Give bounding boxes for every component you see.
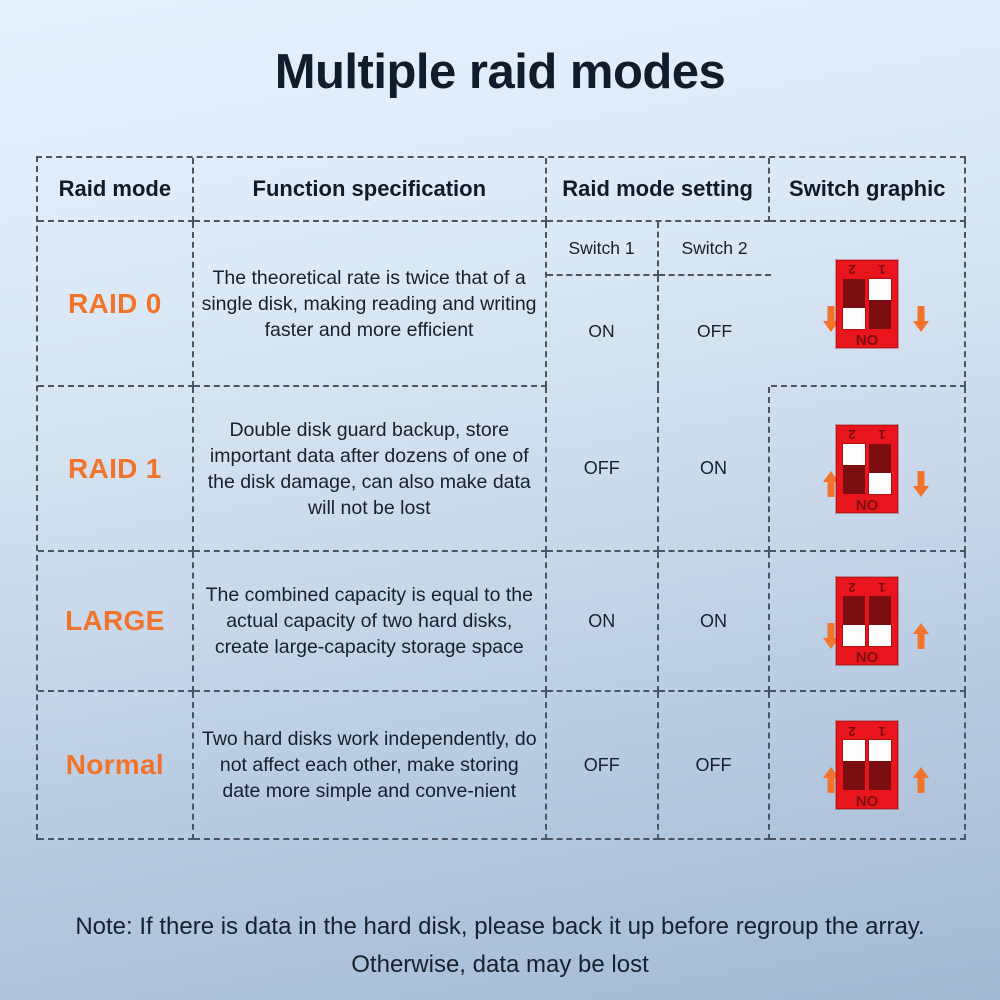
function-specification-text: Double disk guard backup, store importan… [202,417,537,521]
switch-1-value: ON [547,276,659,387]
dip-switch-slot-2 [843,444,865,494]
dip-switch-on-label: ON [837,332,897,347]
dip-switch-label-1: 1 [875,581,889,594]
function-specification-text: The theoretical rate is twice that of a … [202,265,537,343]
switch-graphic-cell: 21ON [770,387,966,552]
raid-mode-label: RAID 1 [68,453,162,485]
table-header-row: Raid mode Function specification Raid mo… [38,158,966,222]
dip-switch-on-label: ON [837,497,897,512]
raid-modes-infographic: Multiple raid modes Raid mode Function s… [0,0,1000,1000]
header-switch-graphic: Switch graphic [770,158,966,222]
page-title: Multiple raid modes [0,44,1000,100]
switch-graphic-cell: 21ON [770,552,966,692]
dip-switch-graphic: 21ON [836,260,898,348]
table-row: RAID 0The theoretical rate is twice that… [38,222,966,387]
dip-switch-graphic: 21ON [836,721,898,809]
dip-switch-slider-1[interactable] [869,625,891,646]
raid-mode-label: Normal [66,749,164,781]
switch-1-value: ON [547,552,659,692]
subheader-switch-1: Switch 1 [547,222,659,276]
subheader-switch-2: Switch 2 [659,222,771,276]
dip-switch-graphic: 21ON [836,577,898,665]
switch-2-value: OFF [659,692,771,840]
raid-mode-label: LARGE [65,605,165,637]
dip-switch-label-2: 2 [845,263,859,276]
switch-value-row: ONOFF [547,276,771,387]
dip-switch-slider-2[interactable] [843,444,865,465]
dip-switch-label-2: 2 [845,725,859,738]
dip-switch-number-labels: 21 [837,579,897,595]
raid-modes-table: Raid mode Function specification Raid mo… [36,156,966,840]
dip-switch-label-1: 1 [875,263,889,276]
function-specification-cell: Two hard disks work independently, do no… [194,692,547,840]
dip-switch-slot-1 [869,740,891,790]
table-row: NormalTwo hard disks work independently,… [38,692,966,840]
switch-subheader-row: Switch 1Switch 2 [547,222,771,276]
dip-switch-label-2: 2 [845,581,859,594]
table-row: RAID 1Double disk guard backup, store im… [38,387,966,552]
dip-switch-number-labels: 21 [837,723,897,739]
dip-switch-slots [843,596,891,646]
switch-1-value: OFF [547,387,659,552]
dip-switch-slots [843,740,891,790]
table-row: LARGEThe combined capacity is equal to t… [38,552,966,692]
table-body: RAID 0The theoretical rate is twice that… [38,222,966,840]
dip-switch-slot-1 [869,279,891,329]
dip-switch-slider-2[interactable] [843,740,865,761]
raid-mode-cell: RAID 1 [38,387,194,552]
switch-graphic-cell: 21ON [770,692,966,840]
dip-switch-graphic: 21ON [836,425,898,513]
dip-switch-label-1: 1 [875,428,889,441]
dip-switch-slot-2 [843,279,865,329]
dip-switch-number-labels: 21 [837,262,897,278]
switch-2-value: OFF [659,276,771,387]
switch-2-value: ON [659,387,771,552]
setting-column: Switch 1Switch 2ONOFF [547,222,771,387]
footer-note-line-1: Note: If there is data in the hard disk,… [0,908,1000,946]
header-function-specification: Function specification [194,158,547,222]
function-specification-cell: The combined capacity is equal to the ac… [194,552,547,692]
dip-switch-on-label: ON [837,793,897,808]
raid-mode-label: RAID 0 [68,288,162,320]
dip-switch-label-1: 1 [875,725,889,738]
function-specification-text: The combined capacity is equal to the ac… [202,582,537,660]
function-specification-cell: The theoretical rate is twice that of a … [194,222,547,387]
dip-switch-slider-1[interactable] [869,473,891,494]
dip-switch-slot-2 [843,596,865,646]
raid-mode-cell: Normal [38,692,194,840]
switch-graphic-cell: 21ON [771,222,966,387]
raid-mode-cell: LARGE [38,552,194,692]
dip-switch-label-2: 2 [845,428,859,441]
header-raid-mode-setting: Raid mode setting [547,158,771,222]
dip-switch-slider-1[interactable] [869,740,891,761]
switch-1-value: OFF [547,692,659,840]
function-specification-text: Two hard disks work independently, do no… [202,726,537,804]
dip-switch-slot-1 [869,444,891,494]
header-raid-mode: Raid mode [38,158,194,222]
dip-switch-slider-2[interactable] [843,625,865,646]
raid-mode-cell: RAID 0 [38,222,194,387]
dip-switch-slots [843,444,891,494]
function-specification-cell: Double disk guard backup, store importan… [194,387,547,552]
footer-note: Note: If there is data in the hard disk,… [0,908,1000,984]
dip-switch-slider-1[interactable] [869,279,891,300]
dip-switch-slot-2 [843,740,865,790]
dip-switch-slider-2[interactable] [843,308,865,329]
dip-switch-slots [843,279,891,329]
dip-switch-on-label: ON [837,649,897,664]
dip-switch-number-labels: 21 [837,427,897,443]
switch-2-value: ON [659,552,771,692]
dip-switch-slot-1 [869,596,891,646]
footer-note-line-2: Otherwise, data may be lost [0,946,1000,984]
